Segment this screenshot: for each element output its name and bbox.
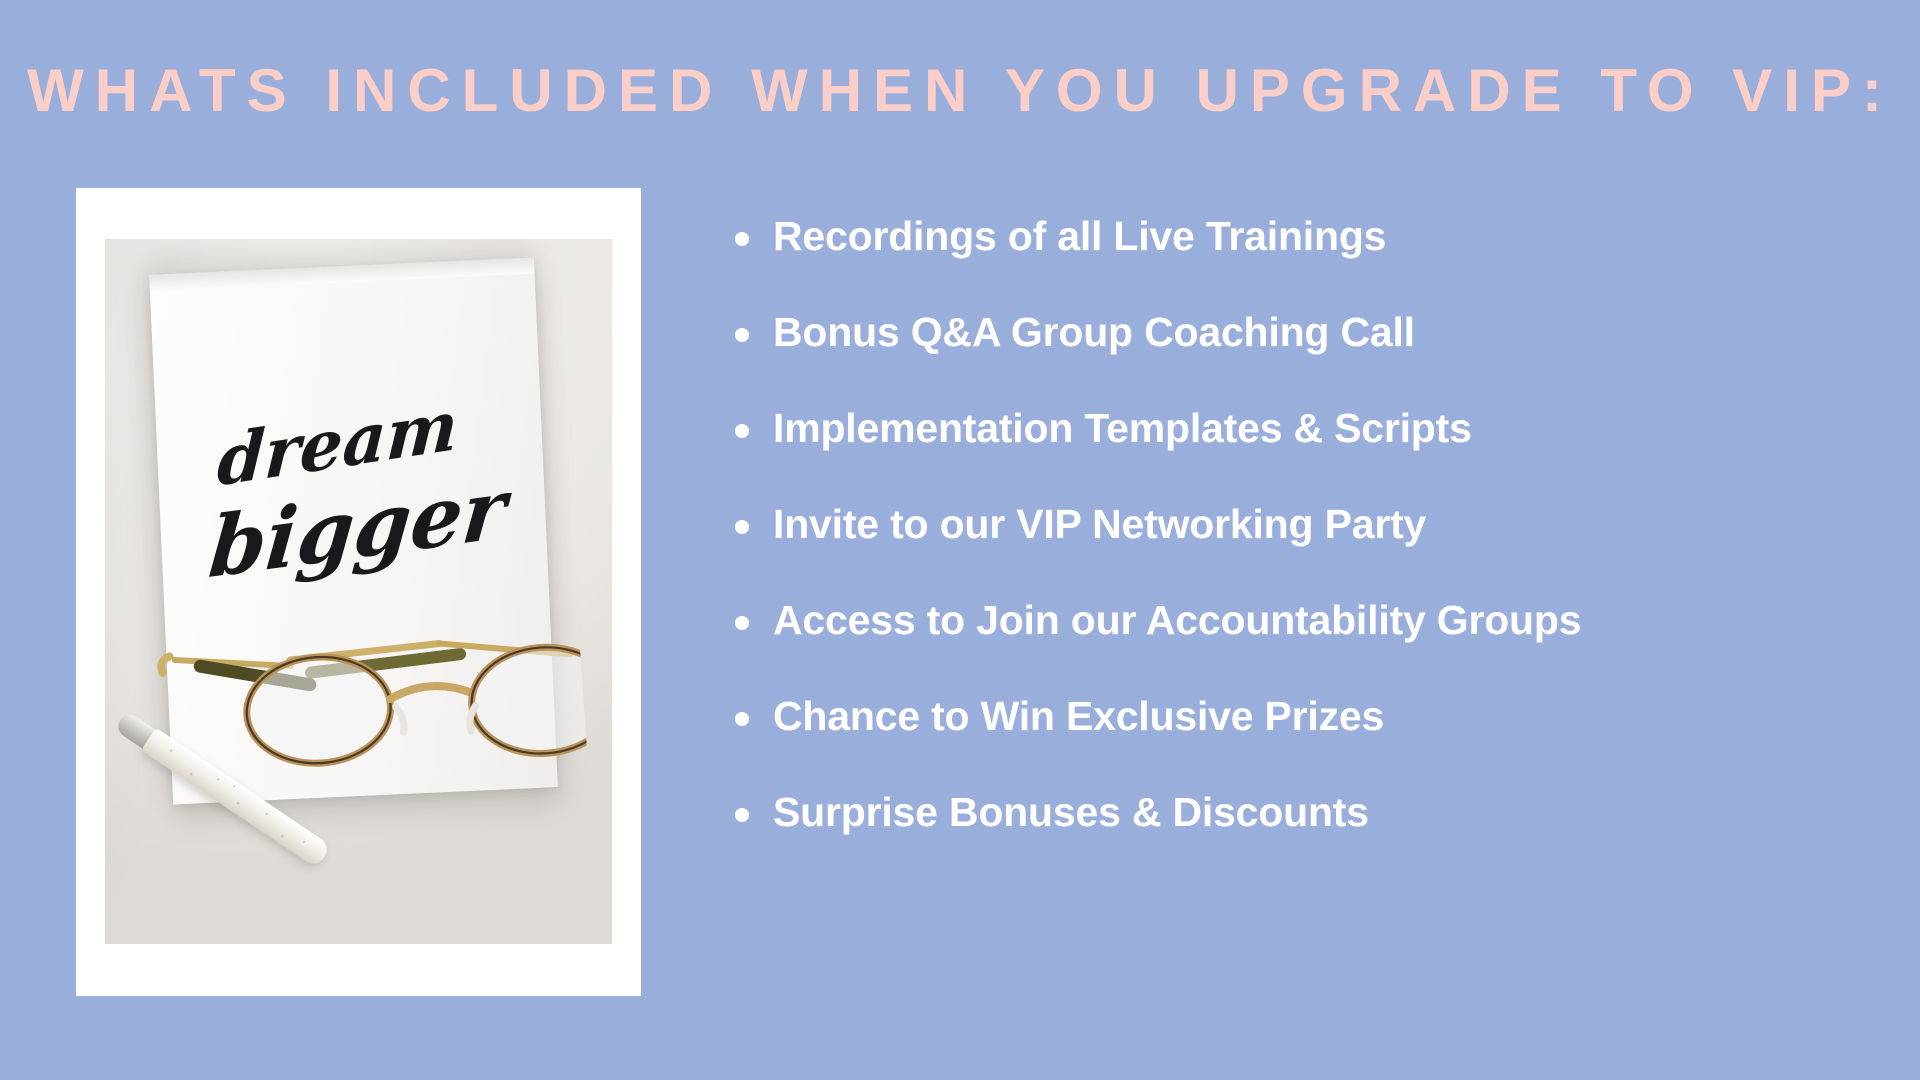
bullet-dot-icon: [735, 616, 749, 630]
bullet-dot-icon: [735, 808, 749, 822]
list-item-label: Recordings of all Live Trainings: [773, 212, 1386, 260]
bullet-dot-icon: [735, 520, 749, 534]
list-item: Invite to our VIP Networking Party: [735, 500, 1875, 548]
list-item-label: Surprise Bonuses & Discounts: [773, 788, 1369, 836]
list-item-label: Access to Join our Accountability Groups: [773, 596, 1581, 644]
page-title: WHATS INCLUDED WHEN YOU UPGRADE TO VIP:: [0, 58, 1920, 124]
list-item: Implementation Templates & Scripts: [735, 404, 1875, 452]
list-item: Surprise Bonuses & Discounts: [735, 788, 1875, 836]
list-item-label: Implementation Templates & Scripts: [773, 404, 1472, 452]
photo-frame: dream bigger: [76, 188, 641, 996]
vip-benefits-list: Recordings of all Live Trainings Bonus Q…: [735, 212, 1875, 836]
list-item: Access to Join our Accountability Groups: [735, 596, 1875, 644]
list-item-label: Invite to our VIP Networking Party: [773, 500, 1426, 548]
bullet-dot-icon: [735, 712, 749, 726]
list-item: Chance to Win Exclusive Prizes: [735, 692, 1875, 740]
vip-upgrade-slide: WHATS INCLUDED WHEN YOU UPGRADE TO VIP: …: [0, 0, 1920, 1080]
bullet-dot-icon: [735, 328, 749, 342]
list-item-label: Bonus Q&A Group Coaching Call: [773, 308, 1415, 356]
bullet-dot-icon: [735, 232, 749, 246]
bullet-dot-icon: [735, 424, 749, 438]
list-item: Bonus Q&A Group Coaching Call: [735, 308, 1875, 356]
list-item-label: Chance to Win Exclusive Prizes: [773, 692, 1384, 740]
list-item: Recordings of all Live Trainings: [735, 212, 1875, 260]
photo-image: dream bigger: [105, 239, 612, 944]
